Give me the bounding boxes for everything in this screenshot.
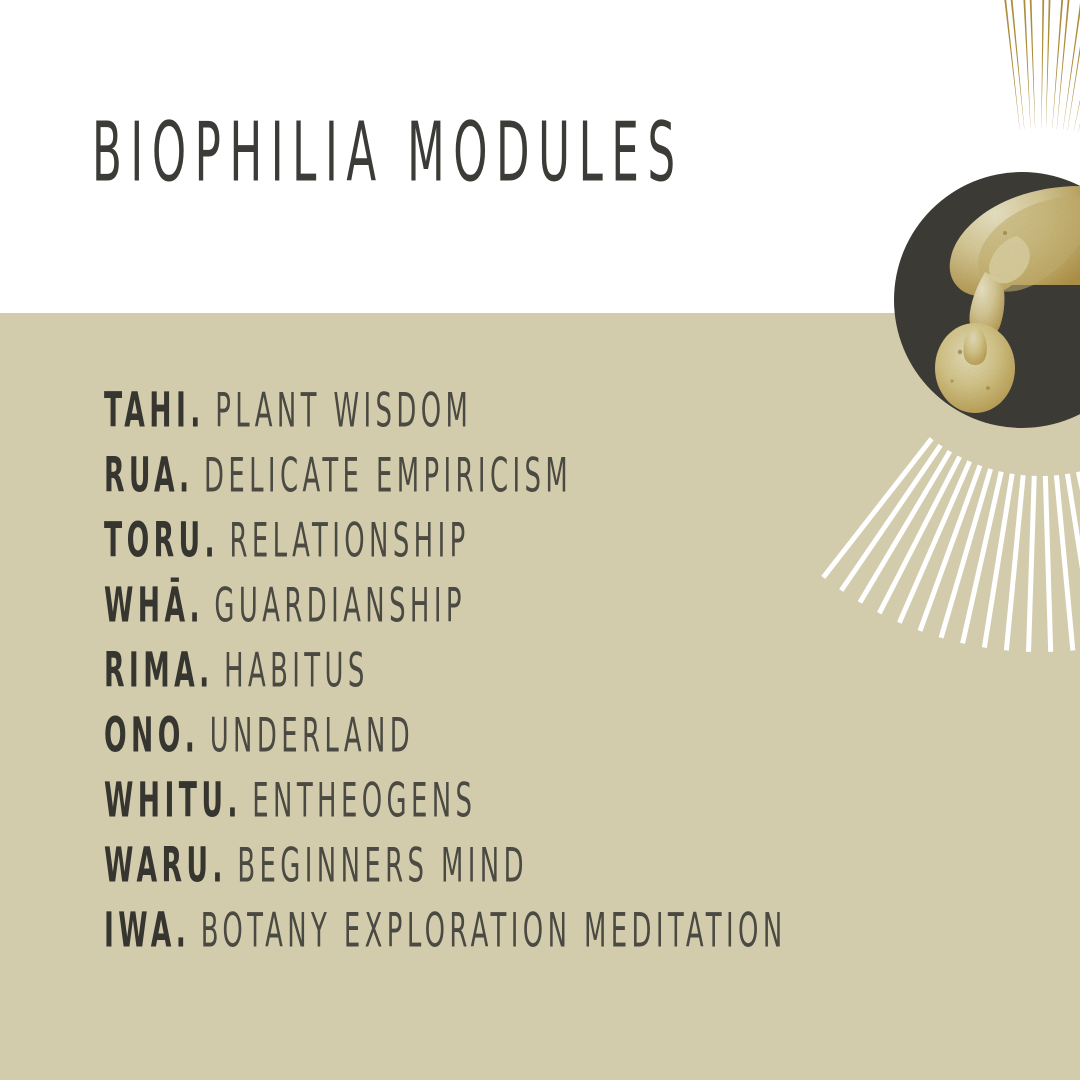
module-label: UNDERLAND xyxy=(210,710,414,763)
module-list: TAHI.PLANT WISDOMRUA.DELICATE EMPIRICISM… xyxy=(104,392,1004,977)
module-row: IWA.BOTANY EXPLORATION MEDITATION xyxy=(104,902,824,987)
page-title: BIOPHILIA MODULES xyxy=(92,112,684,194)
module-separator: . xyxy=(189,577,214,633)
module-number: RUA xyxy=(104,447,179,503)
module-separator: . xyxy=(199,642,224,698)
module-separator: . xyxy=(212,837,237,893)
module-number: ONO xyxy=(104,707,185,763)
module-number: WARU xyxy=(104,837,212,893)
module-label: GUARDIANSHIP xyxy=(214,580,465,633)
module-number: WHITU xyxy=(104,772,227,828)
module-separator: . xyxy=(185,707,210,763)
module-label: ENTHEOGENS xyxy=(252,775,476,828)
module-label: BEGINNERS MIND xyxy=(237,840,528,893)
module-separator: . xyxy=(205,512,230,568)
module-separator: . xyxy=(176,902,201,958)
module-number: TAHI xyxy=(104,382,190,438)
module-separator: . xyxy=(179,447,204,503)
module-label: RELATIONSHIP xyxy=(229,515,469,568)
module-number: RIMA xyxy=(104,642,199,698)
module-label: HABITUS xyxy=(224,645,369,698)
poster-canvas: BIOPHILIA MODULES TAHI.PLANT WISDOMRUA.D… xyxy=(0,0,1080,1080)
module-number: IWA xyxy=(104,902,176,958)
module-label: PLANT WISDOM xyxy=(215,385,472,438)
module-separator: . xyxy=(227,772,252,828)
module-label: DELICATE EMPIRICISM xyxy=(204,450,572,503)
module-label: BOTANY EXPLORATION MEDITATION xyxy=(201,905,787,958)
module-number: TORU xyxy=(104,512,205,568)
module-separator: . xyxy=(190,382,215,438)
module-number: WHĀ xyxy=(104,577,189,633)
